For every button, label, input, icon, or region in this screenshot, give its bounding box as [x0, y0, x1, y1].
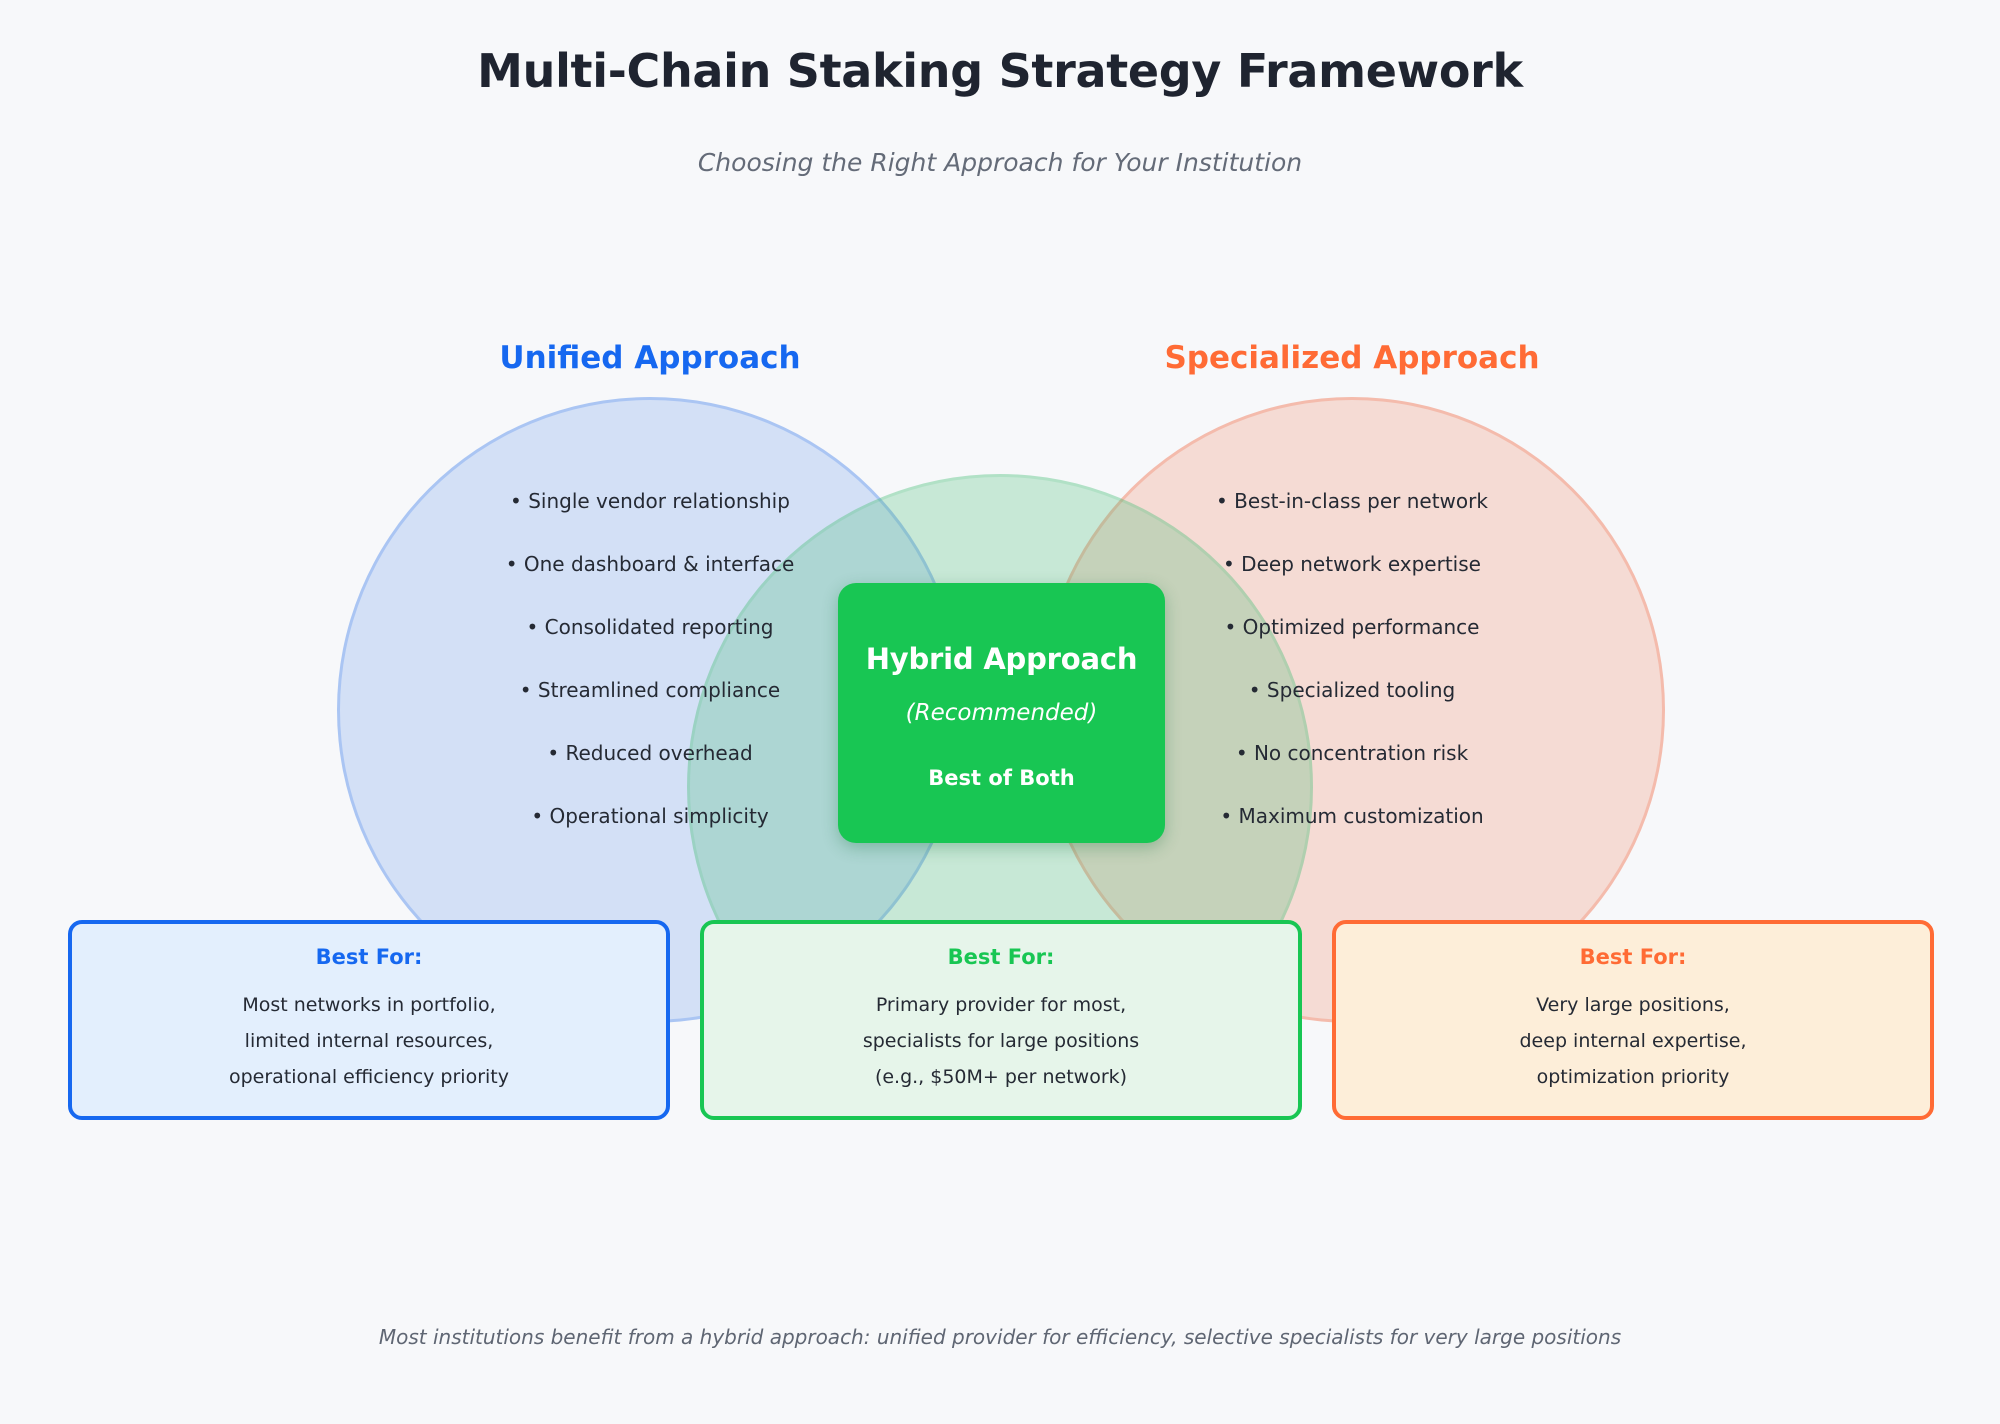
- bestfor-lines: Very large positions, deep internal expe…: [1520, 987, 1747, 1095]
- list-item: limited internal resources,: [229, 1023, 509, 1059]
- list-item: • Best-in-class per network: [1072, 470, 1632, 533]
- venn-heading-unified: Unified Approach: [330, 340, 970, 376]
- hybrid-approach-recommended-tag: (Recommended): [906, 700, 1098, 726]
- bestfor-card-unified: Best For: Most networks in portfolio, li…: [68, 920, 670, 1120]
- footer-note: Most institutions benefit from a hybrid …: [0, 1325, 2000, 1349]
- bestfor-card-hybrid: Best For: Primary provider for most, spe…: [700, 920, 1302, 1120]
- venn-heading-specialized: Specialized Approach: [1032, 340, 1672, 376]
- bestfor-label: Best For:: [316, 945, 423, 969]
- bestfor-card-specialized: Best For: Very large positions, deep int…: [1332, 920, 1934, 1120]
- list-item: Most networks in portfolio,: [229, 987, 509, 1023]
- list-item: optimization priority: [1520, 1059, 1747, 1095]
- hybrid-approach-note: Best of Both: [928, 766, 1074, 790]
- list-item: operational efficiency priority: [229, 1059, 509, 1095]
- hybrid-approach-card: Hybrid Approach (Recommended) Best of Bo…: [838, 583, 1165, 843]
- list-item: deep internal expertise,: [1520, 1023, 1747, 1059]
- list-item: (e.g., $50M+ per network): [863, 1059, 1139, 1095]
- list-item: specialists for large positions: [863, 1023, 1139, 1059]
- bestfor-label: Best For:: [1580, 945, 1687, 969]
- bestfor-lines: Primary provider for most, specialists f…: [863, 987, 1139, 1095]
- list-item: • Single vendor relationship: [370, 470, 930, 533]
- bestfor-lines: Most networks in portfolio, limited inte…: [229, 987, 509, 1095]
- hybrid-approach-title: Hybrid Approach: [866, 642, 1138, 676]
- list-item: Primary provider for most,: [863, 987, 1139, 1023]
- bestfor-label: Best For:: [948, 945, 1055, 969]
- list-item: Very large positions,: [1520, 987, 1747, 1023]
